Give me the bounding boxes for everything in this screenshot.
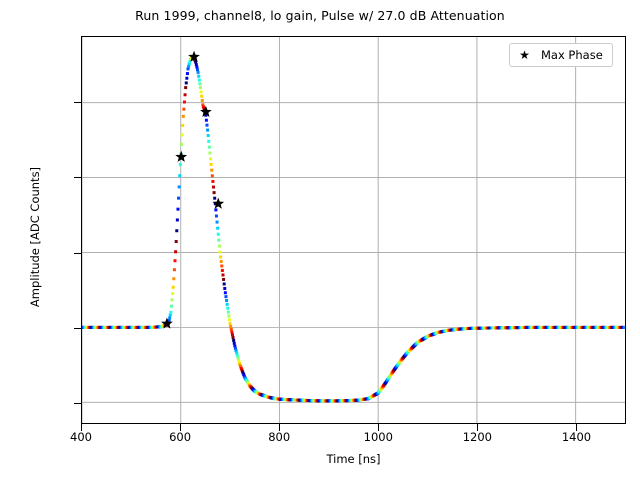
x-axis-label: Time [ns] xyxy=(81,452,626,466)
figure-canvas: Run 1999, channel8, lo gain, Pulse w/ 27… xyxy=(0,0,640,480)
max-phase-markers xyxy=(82,37,625,423)
x-tick-label: 1000 xyxy=(338,430,418,444)
x-tick-label: 800 xyxy=(239,430,319,444)
y-tick-mark xyxy=(74,253,81,254)
x-tick-mark xyxy=(81,424,82,431)
y-axis-label: Amplitude [ADC Counts] xyxy=(28,107,42,367)
x-tick-label: 600 xyxy=(140,430,220,444)
legend: ★ Max Phase xyxy=(509,43,613,67)
x-tick-mark xyxy=(279,424,280,431)
x-tick-label: 1400 xyxy=(536,430,616,444)
star-marker-icon: ★ xyxy=(517,49,532,61)
y-tick-mark xyxy=(74,177,81,178)
x-tick-mark xyxy=(477,424,478,431)
x-tick-label: 400 xyxy=(41,430,121,444)
x-tick-mark xyxy=(378,424,379,431)
x-tick-mark xyxy=(180,424,181,431)
page-title: Run 1999, channel8, lo gain, Pulse w/ 27… xyxy=(0,8,640,23)
y-tick-mark xyxy=(74,403,81,404)
x-tick-label: 1200 xyxy=(437,430,517,444)
plot-axes xyxy=(81,36,626,424)
x-tick-mark xyxy=(576,424,577,431)
y-tick-mark xyxy=(74,102,81,103)
legend-label-max-phase: Max Phase xyxy=(541,48,603,62)
y-tick-mark xyxy=(74,328,81,329)
